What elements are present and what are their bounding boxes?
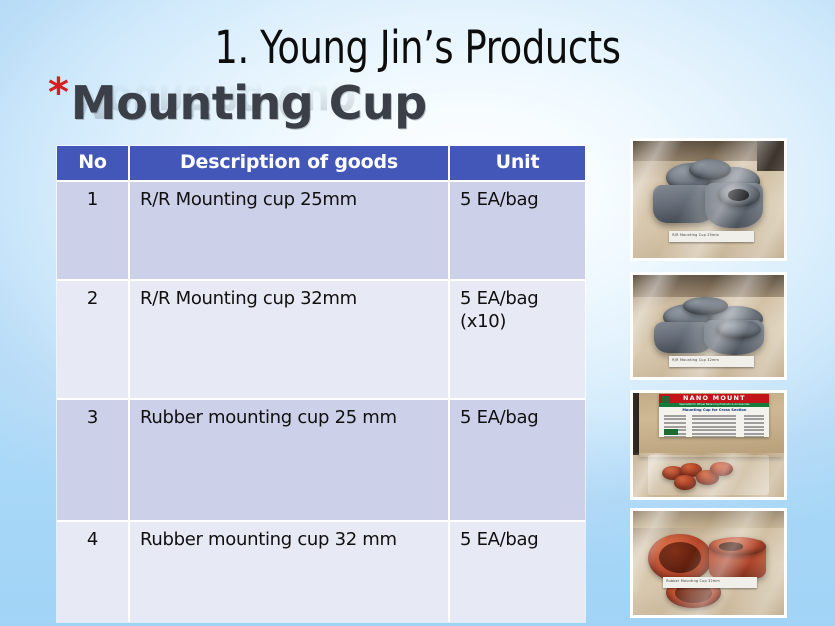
photo-caption-label: Rubber Mounting Cup 32mm: [663, 577, 757, 588]
cell-description: Rubber mounting cup 25 mm: [129, 399, 449, 521]
asterisk-bullet-icon: *: [48, 76, 69, 110]
cell-no: 1: [57, 181, 129, 280]
column-header-no: No: [57, 146, 129, 181]
cell-unit: 5 EA/bag: [449, 399, 585, 521]
photo-background: R/R Mounting Cup 25mm: [633, 141, 784, 258]
cell-unit: 5 EA/bag (x10): [449, 280, 585, 399]
column-header-unit: Unit: [449, 146, 585, 181]
cell-no: 4: [57, 521, 129, 622]
brand-logo-icon: [662, 396, 670, 403]
cell-description: R/R Mounting cup 25mm: [129, 181, 449, 280]
table-header-row: No Description of goods Unit: [57, 146, 585, 181]
spec-sheet: NANO MOUNT Specialist for Wheel Balancin…: [659, 394, 769, 437]
cell-unit: 5 EA/bag: [449, 521, 585, 622]
photo-background: Rubber Mounting Cup 32mm: [633, 511, 784, 615]
rubber-mounting-cup-32mm-photo: Rubber Mounting Cup 32mm: [630, 508, 787, 618]
rubber-mounting-cup-25mm-photo: NANO MOUNT Specialist for Wheel Balancin…: [630, 390, 787, 500]
photo-background: R/R Mounting Cup 32mm: [633, 275, 784, 377]
cell-no: 2: [57, 280, 129, 399]
subtitle-text: Mounting Cup: [71, 76, 427, 130]
cell-unit: 5 EA/bag: [449, 181, 585, 280]
photo-background: NANO MOUNT Specialist for Wheel Balancin…: [633, 393, 784, 497]
slide-canvas: 1. Young Jin’s Products * Mounting Cup M…: [0, 0, 835, 626]
photo-caption-label: R/R Mounting Cup 25mm: [669, 231, 754, 242]
column-header-description: Description of goods: [129, 146, 449, 181]
carton-brand-title: NANO MOUNT: [659, 394, 769, 403]
cell-description: Rubber mounting cup 32 mm: [129, 521, 449, 622]
products-table: No Description of goods Unit 1 R/R Mount…: [57, 146, 585, 622]
photo-caption-label: R/R Mounting Cup 32mm: [669, 356, 754, 367]
table-row: 3 Rubber mounting cup 25 mm 5 EA/bag: [57, 399, 585, 521]
subtitle-stack: Mounting Cup Mounting Cup: [71, 78, 427, 128]
product-carton: NANO MOUNT Specialist for Wheel Balancin…: [639, 393, 784, 457]
rr-mounting-cup-25mm-photo: R/R Mounting Cup 25mm: [630, 138, 787, 261]
cell-no: 3: [57, 399, 129, 521]
table-row: 4 Rubber mounting cup 32 mm 5 EA/bag: [57, 521, 585, 622]
page-title: 1. Young Jin’s Products: [75, 20, 760, 76]
cell-description: R/R Mounting cup 32mm: [129, 280, 449, 399]
table-row: 1 R/R Mounting cup 25mm 5 EA/bag: [57, 181, 585, 280]
subtitle-block: * Mounting Cup Mounting Cup: [48, 78, 427, 128]
table-row: 2 R/R Mounting cup 32mm 5 EA/bag (x10): [57, 280, 585, 399]
carton-spec-heading: Mounting Cup for Cross Section: [659, 407, 769, 413]
rr-mounting-cup-32mm-photo: R/R Mounting Cup 32mm: [630, 272, 787, 380]
